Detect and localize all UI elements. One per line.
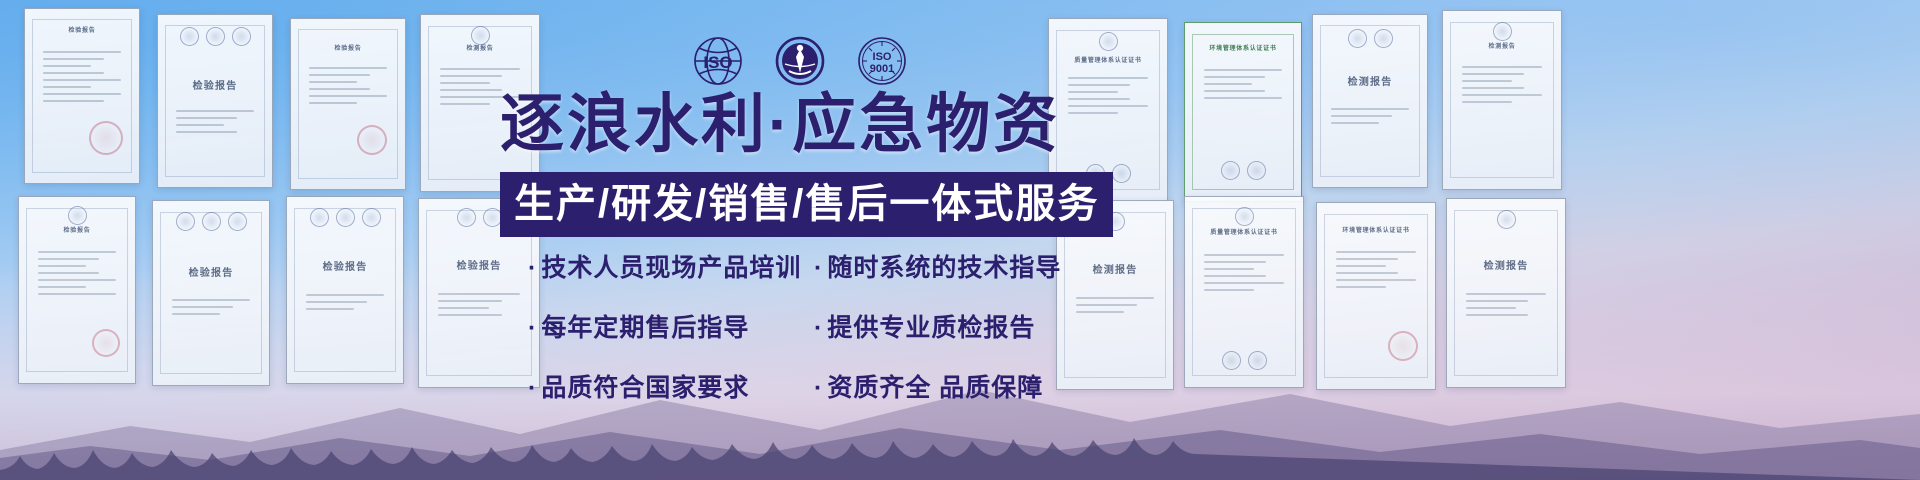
certificate-title: 质量管理体系认证证书 xyxy=(1066,55,1151,64)
feature-label: 技术人员现场产品培训 xyxy=(541,248,801,284)
certificate-title: 质量管理体系认证证书 xyxy=(1202,227,1287,236)
certificate-title: 检验报告 xyxy=(41,25,123,34)
certificate-wall-background: 检验报告 检验报告 检验报告 检测报告 质量管理体系认证证书 环境管理体系认 xyxy=(0,0,1920,480)
certificate-card: 检验报告 xyxy=(18,196,136,384)
certificate-card: 检验报告 xyxy=(24,8,140,184)
feature-item: · 随时系统的技术指导 xyxy=(814,248,1054,284)
certificate-card: 检测报告 xyxy=(1312,14,1428,188)
certificate-logo-row xyxy=(19,206,135,225)
feature-label: 随时系统的技术指导 xyxy=(827,248,1061,284)
certificate-logo-row xyxy=(1185,207,1303,226)
iso-globe-badge-icon: ISO xyxy=(690,33,746,89)
certificate-card: 检测报告 xyxy=(1446,198,1566,388)
certificate-card: 检验报告 xyxy=(152,200,270,386)
certificate-title: 检测报告 xyxy=(1460,41,1545,50)
bullet-icon: · xyxy=(528,316,537,341)
certificate-logo-row xyxy=(1443,22,1561,41)
quality-inspection-badge-icon xyxy=(772,33,828,89)
svg-text:ISO: ISO xyxy=(873,51,892,63)
svg-text:9001: 9001 xyxy=(870,63,894,75)
certificate-logo-row xyxy=(1447,210,1565,229)
certificate-title: 检验报告 xyxy=(174,77,256,92)
certificate-logo-row xyxy=(1185,351,1303,370)
certificate-logo-row xyxy=(153,212,269,231)
feature-item: · 品质符合国家要求 xyxy=(528,368,800,404)
certificate-title: 检测报告 xyxy=(438,43,523,52)
certificate-card: 环境管理体系认证证书 xyxy=(1184,22,1302,202)
certificate-logo-row xyxy=(1049,32,1167,51)
bullet-icon: · xyxy=(528,376,537,401)
certificate-title: 环境管理体系认证证书 xyxy=(1201,43,1285,52)
certificate-card: 质量管理体系认证证书 xyxy=(1184,196,1304,388)
subtitle-banner: 生产/研发/销售/售后一体式服务 xyxy=(500,172,1113,237)
promo-banner: 检验报告 检验报告 检验报告 检测报告 质量管理体系认证证书 环境管理体系认 xyxy=(0,0,1920,480)
certificate-seal xyxy=(89,121,123,155)
bullet-icon: · xyxy=(528,256,537,281)
certificate-card: 检验报告 xyxy=(157,14,273,188)
certificate-title: 检验报告 xyxy=(303,258,387,273)
feature-item: · 资质齐全 品质保障 xyxy=(814,368,1054,404)
certificate-title: 检测报告 xyxy=(1073,261,1157,276)
certificate-logo-row xyxy=(158,27,272,46)
headline-block: 逐浪水利·应急物资 生产/研发/销售/售后一体式服务 xyxy=(500,92,1100,237)
certificate-title: 检测报告 xyxy=(1464,257,1549,272)
feature-label: 品质符合国家要求 xyxy=(541,368,749,404)
certificate-title: 检测报告 xyxy=(1329,73,1411,88)
feature-item: · 技术人员现场产品培训 xyxy=(528,248,800,284)
certificate-logo-row xyxy=(1185,161,1301,180)
certificate-card: 环境管理体系认证证书 xyxy=(1316,202,1436,390)
feature-label: 提供专业质检报告 xyxy=(827,308,1035,344)
certificate-card: 检验报告 xyxy=(286,196,404,384)
feature-label: 资质齐全 品质保障 xyxy=(827,368,1043,404)
certificate-seal xyxy=(92,329,120,357)
certificate-title: 检验报告 xyxy=(436,257,522,272)
certificate-card: 检验报告 xyxy=(290,18,406,190)
certificate-logo-row xyxy=(1313,29,1427,48)
certification-badge-row: ISO ISO 9001 xyxy=(690,33,910,89)
feature-list: · 技术人员现场产品培训 · 随时系统的技术指导 · 每年定期售后指导 · 提供… xyxy=(528,248,1054,404)
certificate-title: 环境管理体系认证证书 xyxy=(1334,225,1419,234)
certificate-card: 检测报告 xyxy=(1442,10,1562,190)
certificate-seal xyxy=(357,125,387,155)
feature-label: 每年定期售后指导 xyxy=(541,308,749,344)
certificate-logo-row xyxy=(287,208,403,227)
certificate-title: 检验报告 xyxy=(35,225,119,234)
iso-badge-label: ISO xyxy=(703,53,732,72)
bullet-icon: · xyxy=(814,316,823,341)
certificate-title: 检验报告 xyxy=(169,264,253,279)
certificate-seal xyxy=(1388,331,1418,361)
certificate-logo-row xyxy=(421,26,539,45)
iso-9001-badge-icon: ISO 9001 xyxy=(854,33,910,89)
bullet-icon: · xyxy=(814,256,823,281)
certificate-title: 检验报告 xyxy=(307,43,389,52)
bullet-icon: · xyxy=(814,376,823,401)
feature-item: · 每年定期售后指导 xyxy=(528,308,800,344)
page-title: 逐浪水利·应急物资 xyxy=(500,92,1100,156)
feature-item: · 提供专业质检报告 xyxy=(814,308,1054,344)
